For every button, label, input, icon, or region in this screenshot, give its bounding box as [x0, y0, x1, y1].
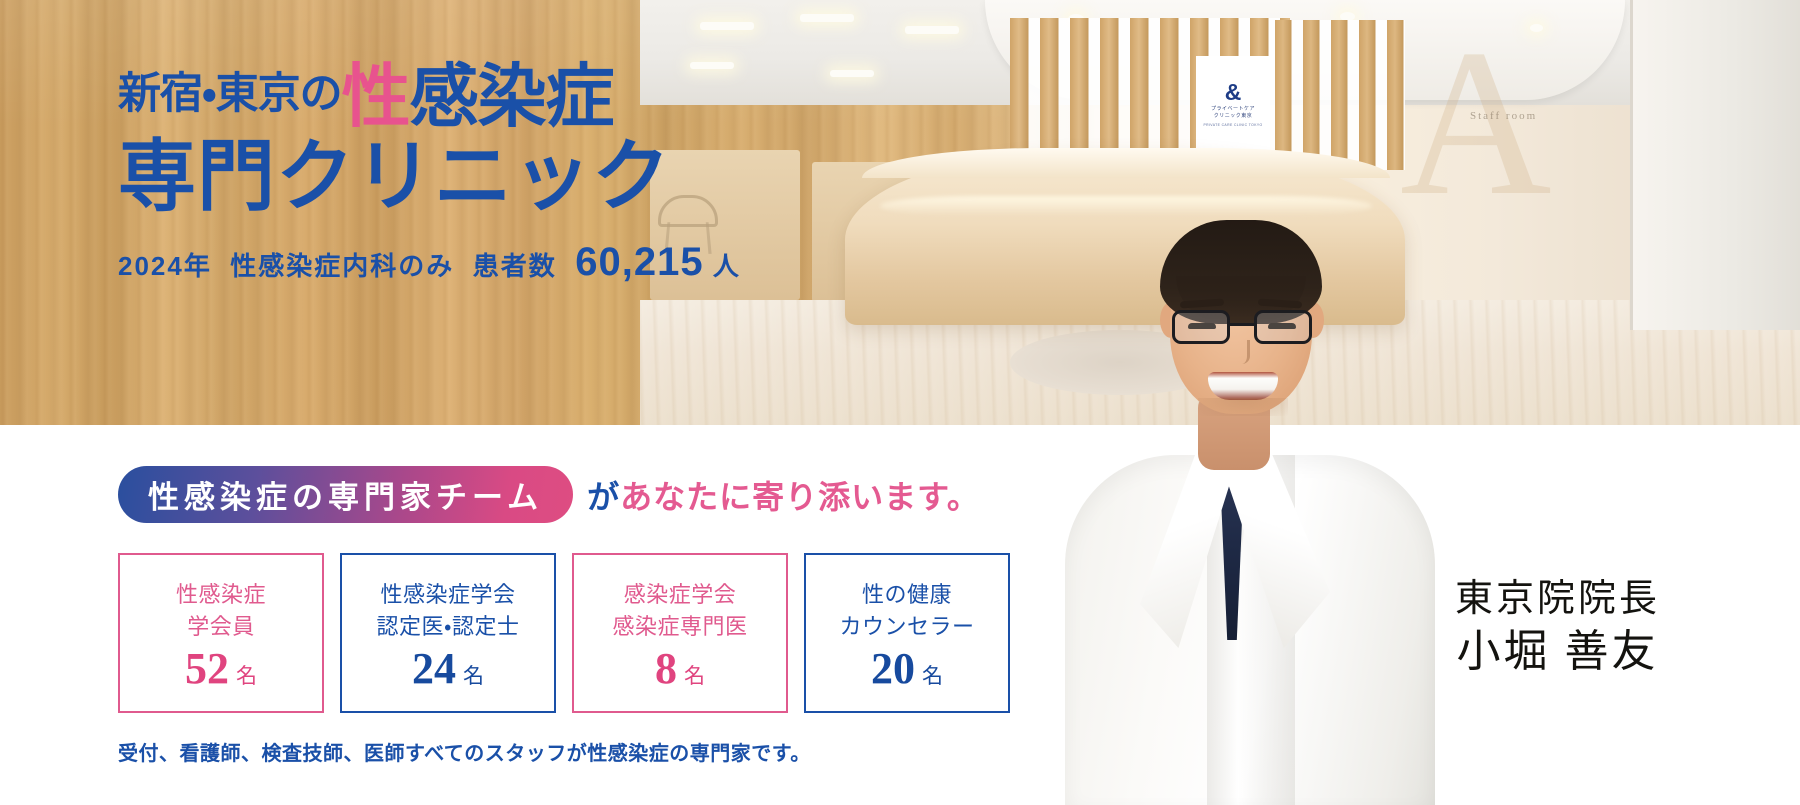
doctor-nose	[1234, 340, 1250, 364]
clinic-logo-name-ja: プライベートケアクリニック東京	[1211, 106, 1255, 120]
specialist-team-pill: 性感染症の専門家チーム	[118, 466, 573, 523]
ceiling-light	[700, 22, 754, 30]
hero-headline: 新宿・東京の性感染症 専門クリニック 2024年 性感染症内科のみ 患者数 60…	[118, 62, 741, 285]
stat-line-1: 性感染症学会	[380, 579, 515, 611]
subtitle-dept: 性感染症内科のみ	[230, 251, 454, 281]
stat-number: 8	[655, 647, 677, 691]
headline-subtitle: 2024年 性感染症内科のみ 患者数 60,215 人	[118, 240, 741, 285]
stat-unit: 名	[236, 660, 257, 690]
headline-highlight: 性	[342, 58, 410, 135]
staff-footnote: 受付、看護師、検査技師、医師すべてのスタッフが性感染症の専門家です。	[118, 737, 811, 766]
subtitle-label: 患者数	[473, 251, 557, 281]
stat-line-2: カウンセラー	[839, 611, 974, 643]
stat-line-2: 認定医・認定士	[377, 611, 520, 643]
glasses-bridge	[1230, 323, 1254, 326]
ceiling-light	[800, 14, 854, 22]
doctor-mouth	[1208, 372, 1278, 400]
subtitle-count: 60,215	[575, 240, 703, 284]
hero-banner: & プライベートケアクリニック東京 PRIVATE CARE CLINIC TO…	[0, 0, 1800, 805]
doctor-hair	[1160, 220, 1322, 324]
stat-number-row: 52 名	[185, 647, 257, 691]
clinic-logo: & プライベートケアクリニック東京 PRIVATE CARE CLINIC TO…	[1196, 56, 1270, 152]
stat-box-group: 性感染症 学会員 52 名 性感染症学会 認定医・認定士 24 名 感染症学会 …	[118, 553, 1010, 713]
headline-prefix: 新宿・東京の	[118, 70, 342, 118]
stat-number: 52	[185, 647, 229, 691]
doctor-title: 東京院院長	[1455, 575, 1660, 624]
stat-box-sexual-health-counselor: 性の健康 カウンセラー 20 名	[804, 553, 1010, 713]
stat-line-2: 学会員	[187, 611, 255, 643]
clinic-interior-photo: & プライベートケアクリニック東京 PRIVATE CARE CLINIC TO…	[0, 0, 1800, 425]
tagline-row: 性感染症の専門家チーム があなたに寄り添います。	[118, 466, 980, 523]
headline-line-1: 新宿・東京の性感染症	[118, 62, 741, 132]
stat-line-2: 感染症専門医	[612, 611, 747, 643]
stat-unit: 名	[684, 660, 705, 690]
stat-number: 20	[871, 647, 915, 691]
stat-box-infectious-disease-specialist: 感染症学会 感染症専門医 8 名	[572, 553, 788, 713]
doctor-chin-shadow	[1198, 398, 1288, 416]
subtitle-year: 2024年	[118, 251, 212, 281]
doctor-name-block: 東京院院長 小堀 善友	[1455, 575, 1660, 680]
stat-line-1: 性の健康	[862, 579, 952, 611]
subtitle-unit: 人	[713, 251, 741, 281]
headline-rest: 感染症	[410, 58, 614, 135]
ceiling-light	[905, 26, 959, 34]
reception-counter-top	[862, 148, 1390, 178]
stat-line-1: 性感染症	[176, 579, 266, 611]
stat-box-sti-society-member: 性感染症 学会員 52 名	[118, 553, 324, 713]
clinic-logo-name-en: PRIVATE CARE CLINIC TOKYO	[1203, 123, 1262, 127]
stat-box-certified-doctor: 性感染症学会 認定医・認定士 24 名	[340, 553, 556, 713]
glasses-lens-left	[1172, 310, 1230, 344]
glasses-lens-right	[1254, 310, 1312, 344]
stat-unit: 名	[463, 660, 484, 690]
doctor-name: 小堀 善友	[1455, 624, 1660, 680]
tagline-rest: あなたに寄り添います。	[620, 472, 980, 518]
stat-number-row: 8 名	[655, 647, 705, 691]
tagline-connector: が	[587, 472, 620, 518]
stat-number: 24	[412, 647, 456, 691]
wood-slat-screen-secondary	[1275, 20, 1405, 170]
doctor-portrait	[1030, 180, 1460, 805]
door	[1630, 0, 1800, 330]
staff-room-sign: Staff room	[1470, 110, 1537, 122]
ceiling-light	[830, 70, 874, 77]
clinic-logo-mark: &	[1225, 81, 1242, 104]
headline-line-2: 専門クリニック	[118, 136, 741, 218]
stat-number-row: 24 名	[412, 647, 484, 691]
stat-number-row: 20 名	[871, 647, 943, 691]
stat-line-1: 感染症学会	[624, 579, 737, 611]
stat-unit: 名	[922, 660, 943, 690]
